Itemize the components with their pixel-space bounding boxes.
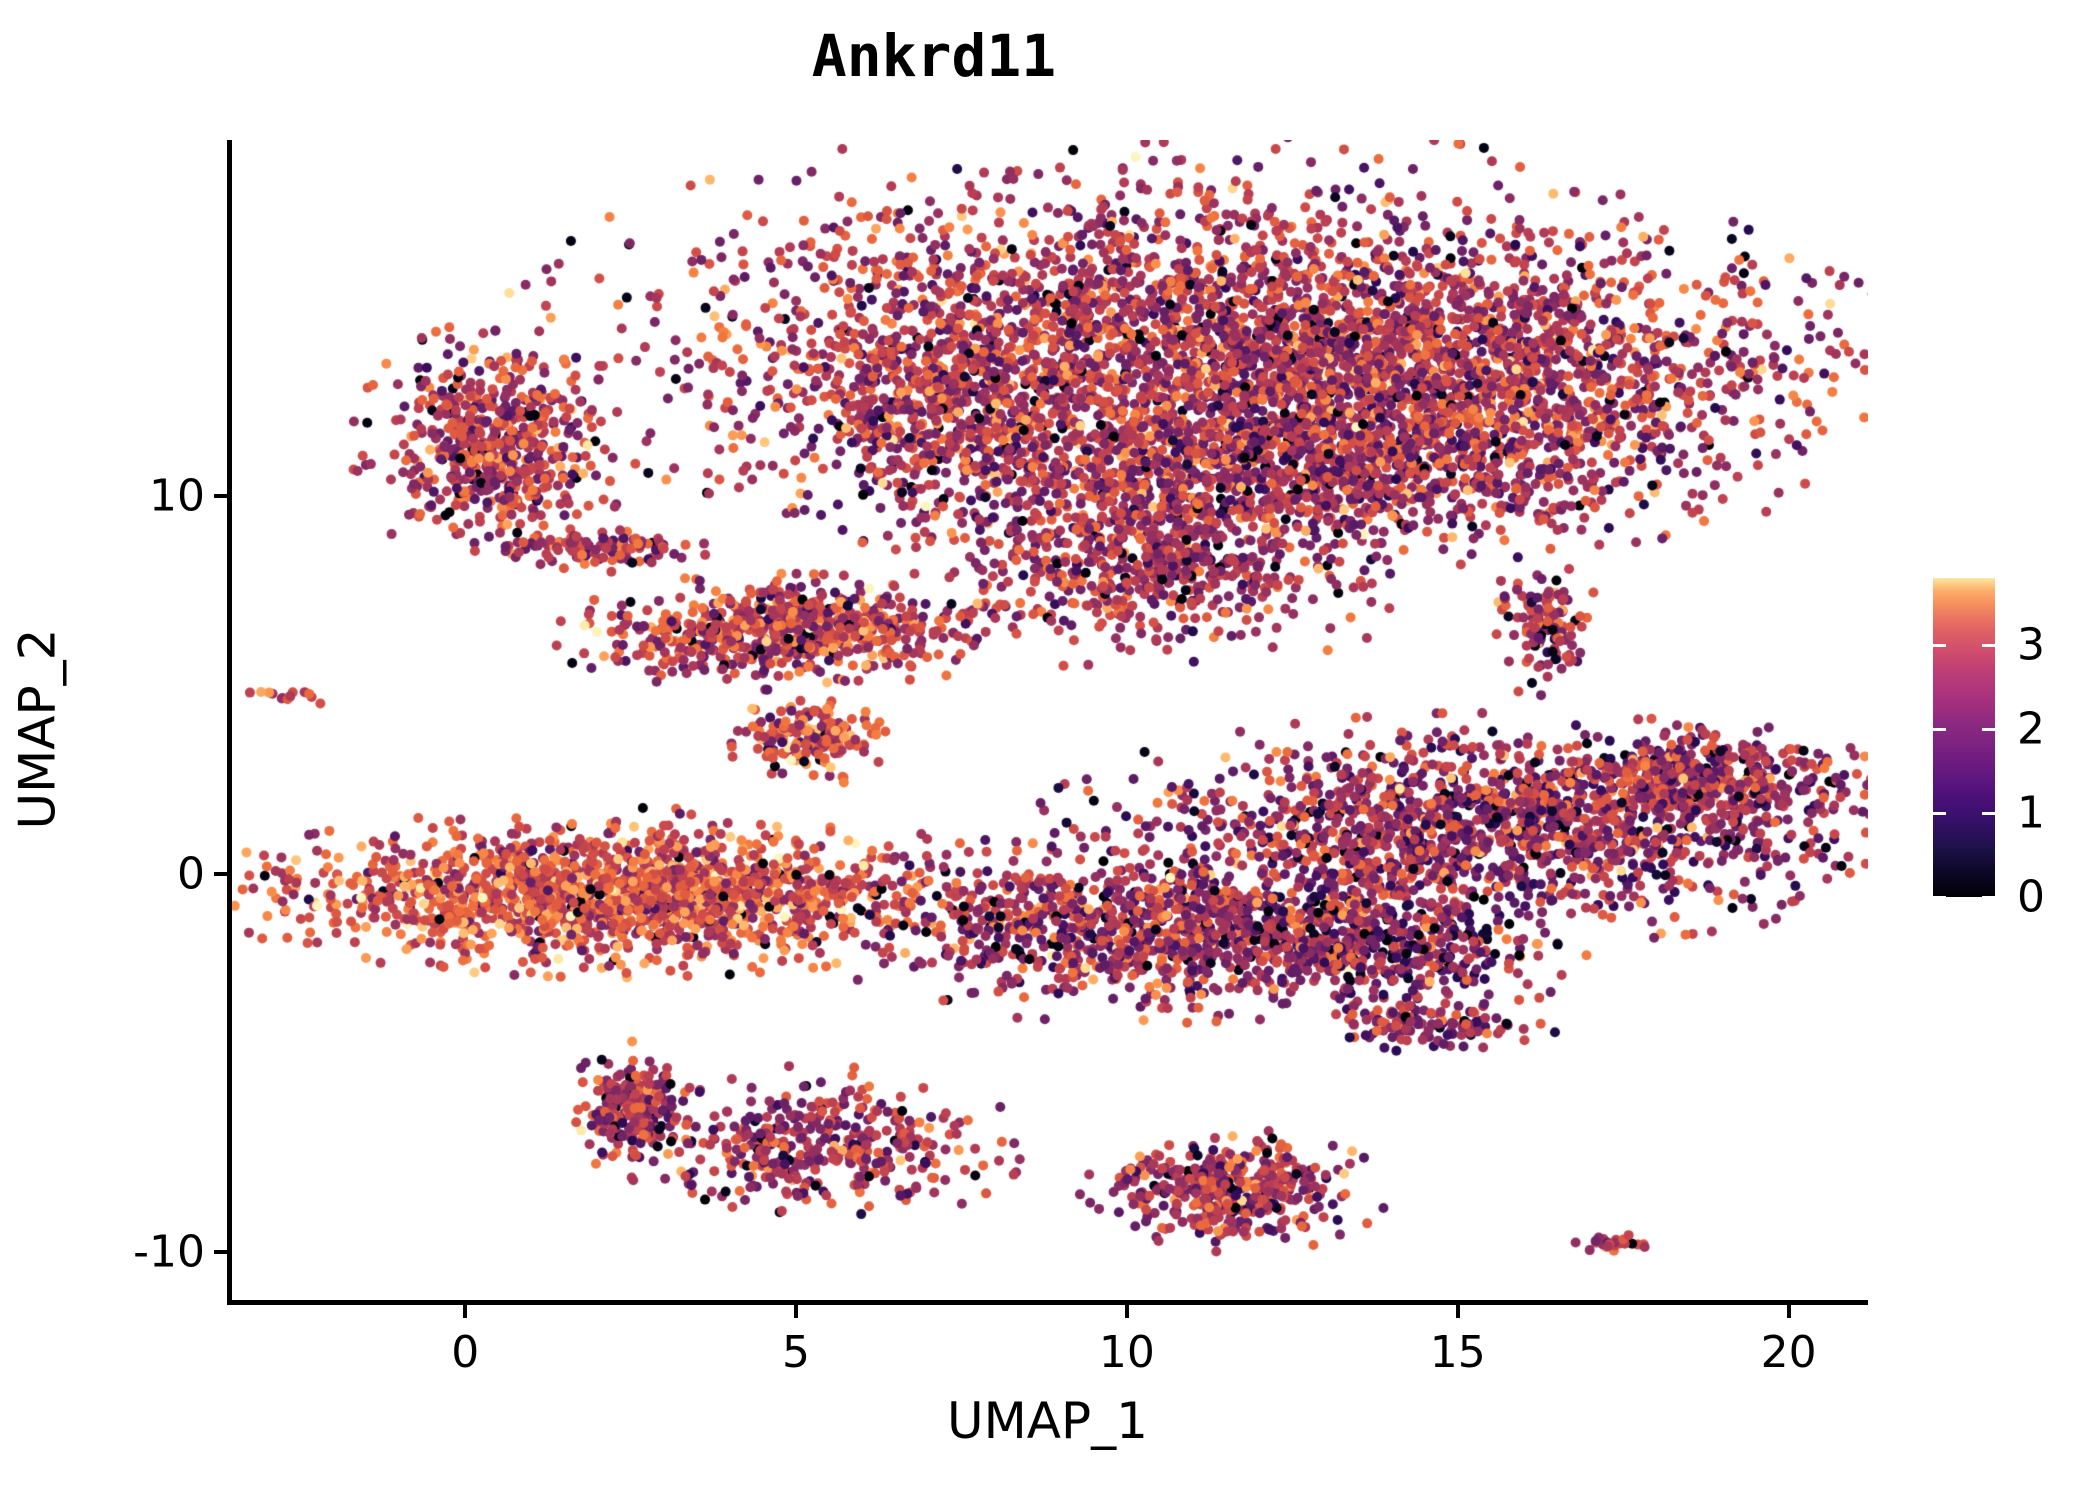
x-tick-label: 5	[782, 1327, 810, 1378]
x-axis-label: UMAP_1	[227, 1392, 1868, 1450]
colorbar-tick-mark	[1933, 728, 1946, 731]
scatter-points-layer	[227, 140, 1868, 1305]
x-tick-mark	[794, 1305, 798, 1318]
umap-feature-plot: { "chart_data": { "type": "scatter", "ti…	[0, 0, 2100, 1500]
y-tick-mark	[214, 872, 227, 876]
colorbar-tick-mark	[1982, 728, 1995, 731]
y-tick-label: -10	[133, 1227, 205, 1278]
x-tick-label: 0	[451, 1327, 479, 1378]
y-axis-label: UMAP_2	[9, 147, 67, 1312]
colorbar-tick-mark	[1933, 812, 1946, 815]
x-tick-mark	[1787, 1305, 1791, 1318]
x-tick-mark	[1125, 1305, 1129, 1318]
x-tick-label: 15	[1430, 1327, 1486, 1378]
colorbar-tick-mark	[1933, 896, 1946, 899]
colorbar: 0123	[1933, 578, 1995, 897]
y-tick-mark	[214, 494, 227, 498]
colorbar-tick-mark	[1982, 644, 1995, 647]
y-tick-label: 0	[177, 848, 205, 899]
plot-axes: -10010 05101520	[227, 140, 1868, 1305]
x-tick-mark	[1456, 1305, 1460, 1318]
colorbar-gradient	[1933, 578, 1995, 897]
x-axis-spine	[227, 1300, 1868, 1305]
x-tick-label: 10	[1099, 1327, 1155, 1378]
colorbar-tick-label: 1	[2017, 788, 2045, 839]
page-title: Ankrd11	[0, 22, 1868, 90]
y-tick-label: 10	[149, 470, 205, 521]
y-tick-mark	[214, 1250, 227, 1254]
y-axis-spine	[227, 140, 232, 1305]
x-tick-mark	[463, 1305, 467, 1318]
colorbar-tick-label: 3	[2017, 620, 2045, 671]
colorbar-tick-mark	[1982, 812, 1995, 815]
colorbar-tick-label: 2	[2017, 704, 2045, 755]
x-tick-label: 20	[1761, 1327, 1817, 1378]
colorbar-tick-mark	[1933, 644, 1946, 647]
colorbar-tick-label: 0	[2017, 872, 2045, 923]
colorbar-tick-mark	[1982, 896, 1995, 899]
